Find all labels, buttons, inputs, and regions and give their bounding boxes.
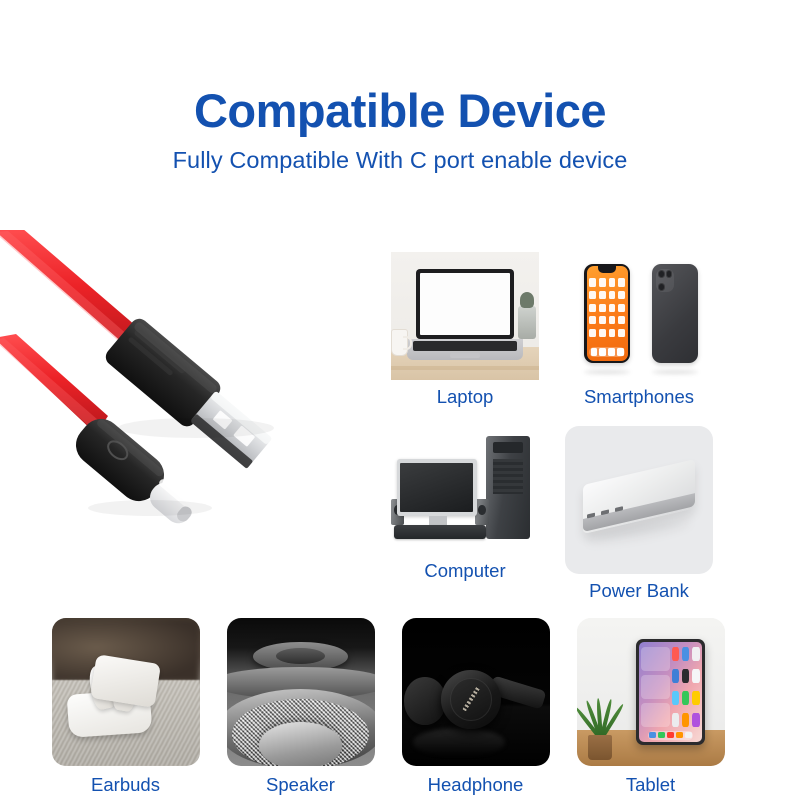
speaker-photo — [227, 618, 375, 766]
device-label-headphone: Headphone — [428, 774, 524, 796]
device-cell-smartphones[interactable]: Smartphones — [552, 252, 726, 408]
product-cable-image — [0, 230, 340, 550]
laptop-photo — [391, 252, 539, 380]
device-label-power-bank: Power Bank — [589, 580, 689, 602]
headphone-photo — [402, 618, 550, 766]
device-grid: Laptop — [378, 252, 726, 602]
power-bank-photo — [565, 426, 713, 574]
device-label-tablet: Tablet — [626, 774, 675, 796]
device-label-smartphones: Smartphones — [584, 386, 694, 408]
device-cell-laptop[interactable]: Laptop — [378, 252, 552, 408]
device-cell-computer[interactable]: Computer — [378, 426, 552, 602]
device-grid-row-2: Computer Power Bank — [378, 426, 726, 602]
smartphones-photo — [565, 252, 713, 380]
device-cell-tablet[interactable]: Tablet — [563, 618, 738, 796]
device-label-computer: Computer — [424, 560, 505, 582]
device-cell-headphone[interactable]: Headphone — [388, 618, 563, 796]
device-label-earbuds: Earbuds — [91, 774, 160, 796]
tablet-photo — [577, 618, 725, 766]
device-grid-row-1: Laptop — [378, 252, 726, 408]
desktop-computer-photo — [391, 426, 539, 554]
header: Compatible Device Fully Compatible With … — [0, 86, 800, 174]
device-cell-earbuds[interactable]: Earbuds — [38, 618, 213, 796]
page-title: Compatible Device — [0, 86, 800, 135]
device-cell-power-bank[interactable]: Power Bank — [552, 426, 726, 602]
device-label-laptop: Laptop — [437, 386, 494, 408]
device-cell-speaker[interactable]: Speaker — [213, 618, 388, 796]
device-label-speaker: Speaker — [266, 774, 335, 796]
earbuds-photo — [52, 618, 200, 766]
page-subtitle: Fully Compatible With C port enable devi… — [0, 147, 800, 174]
device-bottom-row: Earbuds Speaker Headphone — [0, 618, 800, 796]
